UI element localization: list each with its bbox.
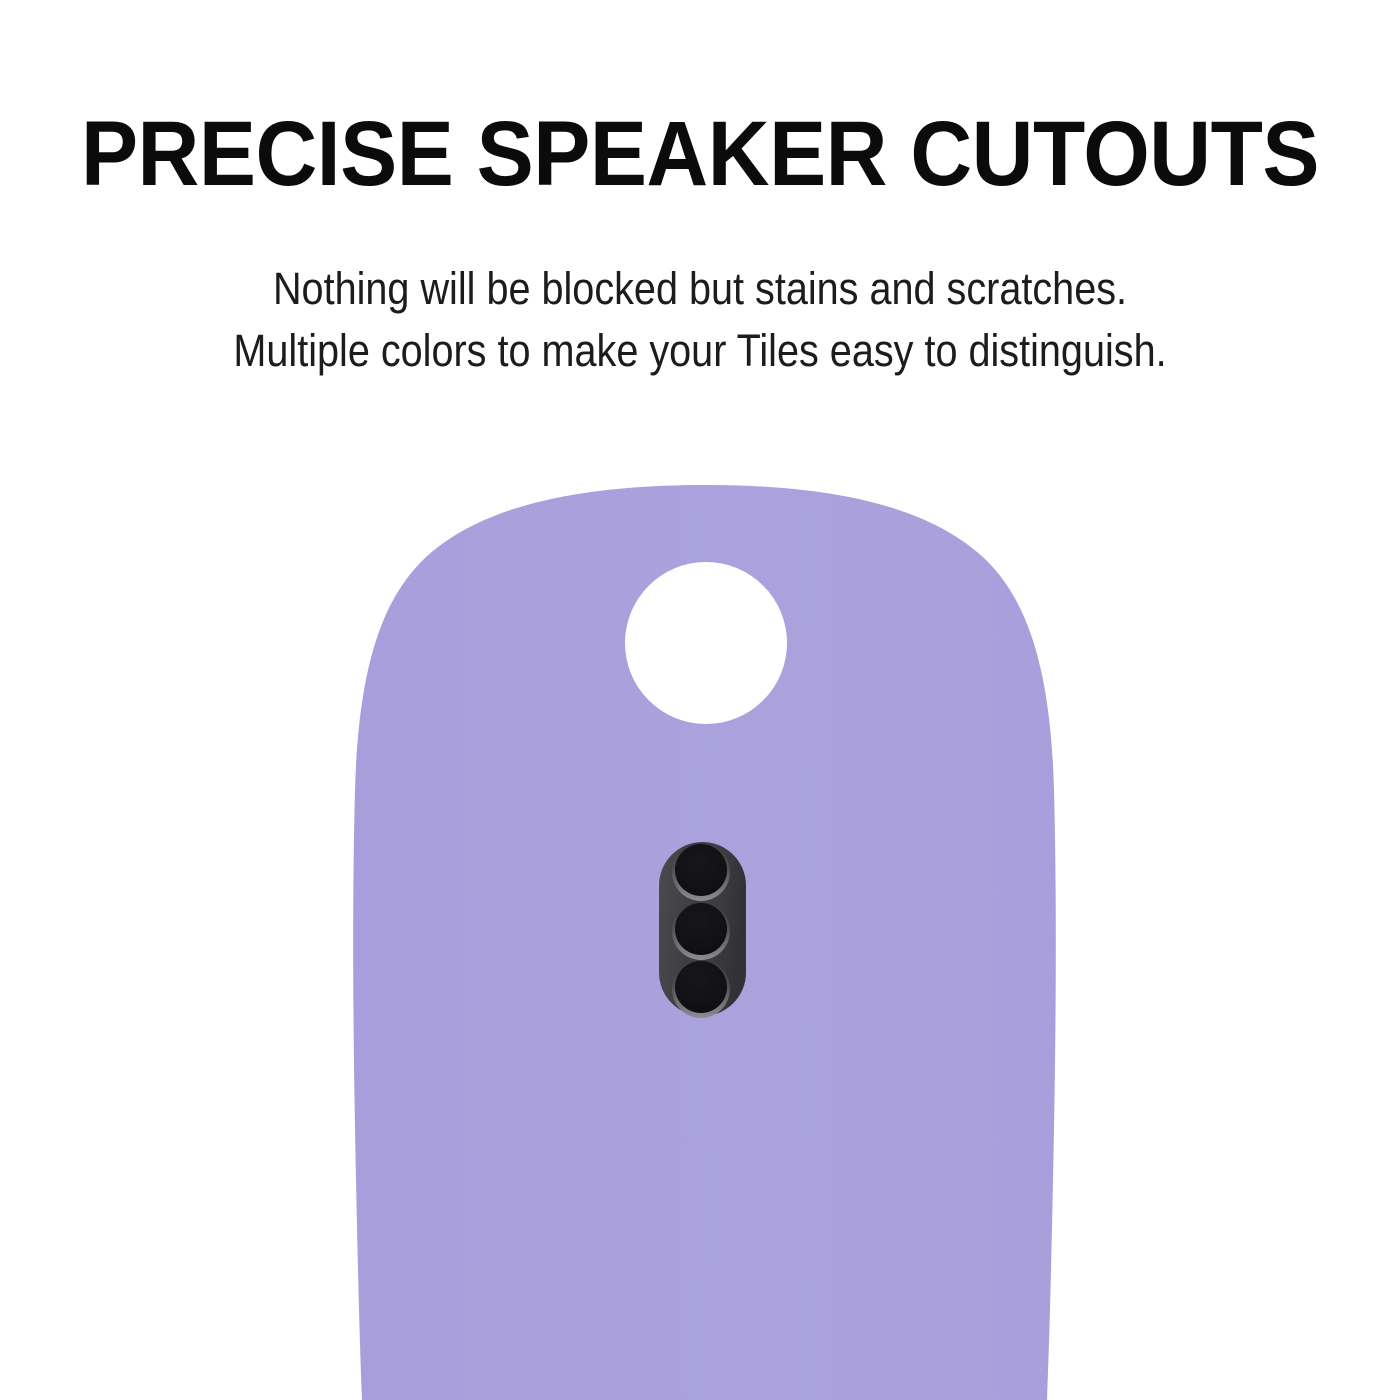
speaker-hole-2 xyxy=(672,902,730,960)
product-illustration xyxy=(0,0,1400,1400)
speaker-hole-1 xyxy=(672,843,730,901)
marketing-image-canvas: PRECISE SPEAKER CUTOUTS Nothing will be … xyxy=(0,0,1400,1400)
speaker-hole-3 xyxy=(672,960,730,1018)
speaker-grille-cutout xyxy=(659,842,746,1018)
product-case-svg xyxy=(0,0,1400,1400)
case-body xyxy=(0,0,1400,1400)
